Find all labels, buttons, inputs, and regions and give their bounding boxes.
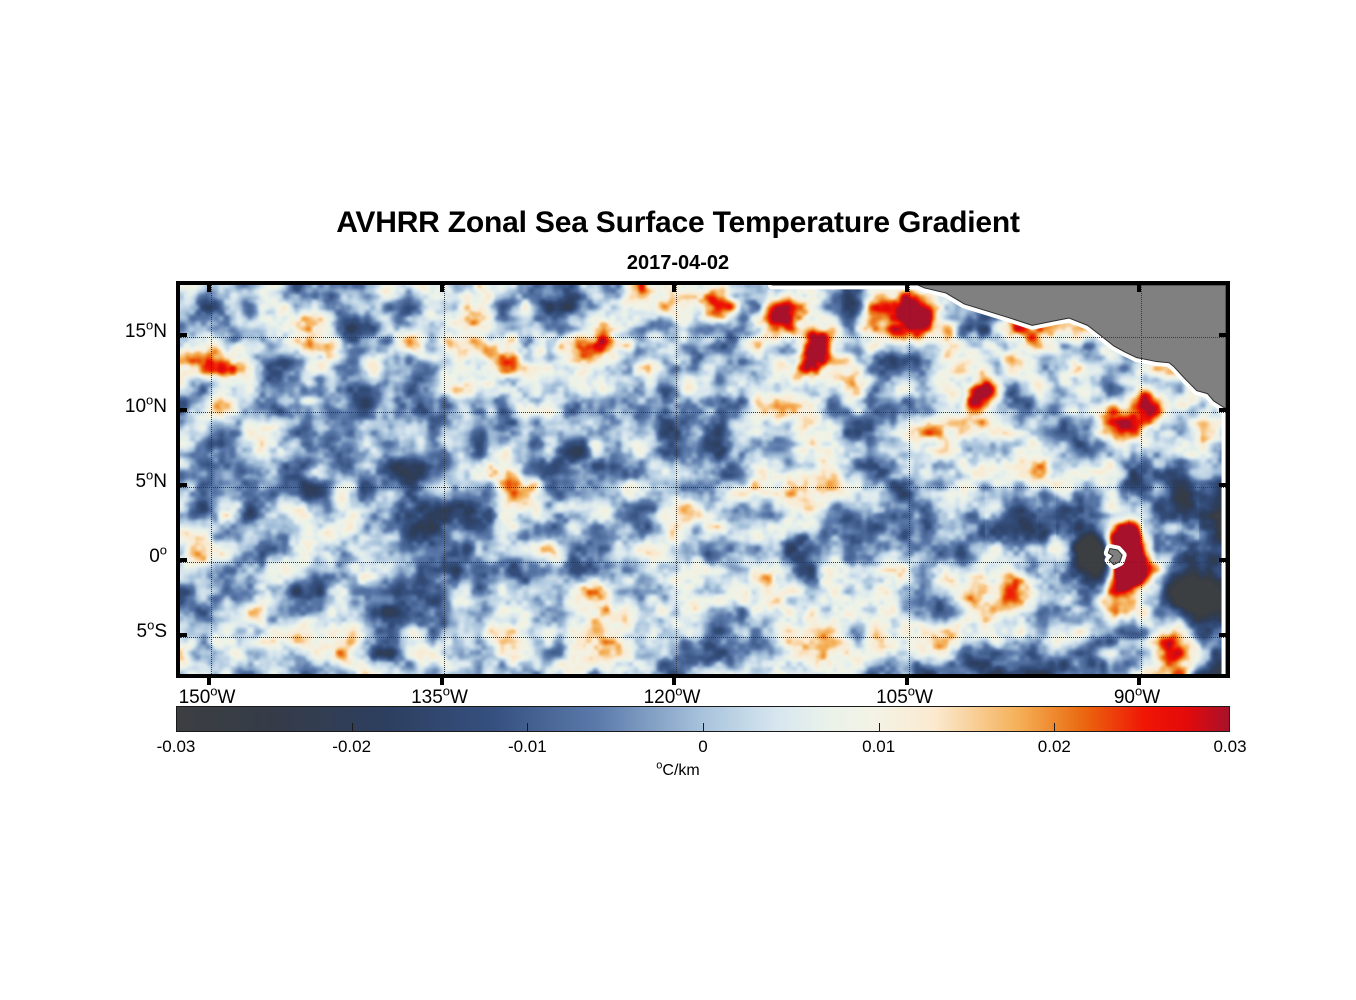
tick-lat-1-right — [1219, 408, 1230, 412]
y-tick-label-3: 0o — [149, 547, 167, 566]
colorbar-unit-label: oC/km — [0, 762, 1356, 780]
gridline-lon-0 — [211, 285, 212, 674]
tick-lat-0-left — [176, 333, 187, 337]
gridline-lat-0 — [180, 337, 1226, 338]
tick-lat-4-right — [1219, 633, 1230, 637]
colorbar-tick-5 — [1054, 723, 1055, 732]
gridline-lon-2 — [676, 285, 677, 674]
tick-lat-0-right — [1219, 333, 1230, 337]
colorbar-tick-3 — [703, 723, 704, 732]
colorbar-label-1: -0.02 — [332, 738, 371, 755]
colorbar-label-4: 0.01 — [862, 738, 895, 755]
colorbar-label-3: 0 — [698, 738, 707, 755]
colorbar[interactable] — [176, 706, 1230, 732]
colorbar-label-2: -0.01 — [508, 738, 547, 755]
tick-lon-3-top — [905, 281, 909, 292]
x-tick-label-2: 120oW — [644, 688, 701, 707]
y-tick-label-4: 5oS — [137, 622, 168, 641]
gridline-lat-4 — [180, 637, 1226, 638]
y-tick-label-2: 5oN — [135, 472, 167, 491]
x-tick-label-3: 105oW — [876, 688, 933, 707]
map-axes[interactable] — [176, 281, 1230, 678]
colorbar-tick-2 — [527, 723, 528, 732]
gridline-lon-4 — [1141, 285, 1142, 674]
tick-lon-0-top — [207, 281, 211, 292]
land-overlay — [180, 285, 1226, 674]
x-tick-label-4: 90oW — [1114, 688, 1160, 707]
colorbar-label-6: 0.03 — [1213, 738, 1246, 755]
gridline-lon-3 — [909, 285, 910, 674]
gridline-lat-1 — [180, 412, 1226, 413]
y-tick-label-1: 10oN — [125, 397, 167, 416]
x-tick-label-1: 135oW — [411, 688, 468, 707]
land-central-south-america — [772, 285, 1226, 674]
x-tick-label-0: 150oW — [179, 688, 236, 707]
tick-lon-2-top — [672, 281, 676, 292]
colorbar-tick-1 — [352, 723, 353, 732]
tick-lat-2-right — [1219, 483, 1230, 487]
figure-subtitle: 2017-04-02 — [0, 252, 1356, 275]
tick-lon-1-top — [440, 281, 444, 292]
tick-lat-1-left — [176, 408, 187, 412]
tick-lat-3-left — [176, 558, 187, 562]
colorbar-label-5: 0.02 — [1038, 738, 1071, 755]
tick-lon-4-top — [1137, 281, 1141, 292]
figure-root: AVHRR Zonal Sea Surface Temperature Grad… — [0, 0, 1356, 1000]
tick-lat-4-left — [176, 633, 187, 637]
gridline-lat-3 — [180, 562, 1226, 563]
colorbar-tick-4 — [879, 723, 880, 732]
y-tick-label-0: 15oN — [125, 322, 167, 341]
gridline-lat-2 — [180, 487, 1226, 488]
tick-lat-2-left — [176, 483, 187, 487]
tick-lat-3-right — [1219, 558, 1230, 562]
gridline-lon-1 — [444, 285, 445, 674]
colorbar-label-0: -0.03 — [157, 738, 196, 755]
page-title: AVHRR Zonal Sea Surface Temperature Grad… — [0, 206, 1356, 240]
